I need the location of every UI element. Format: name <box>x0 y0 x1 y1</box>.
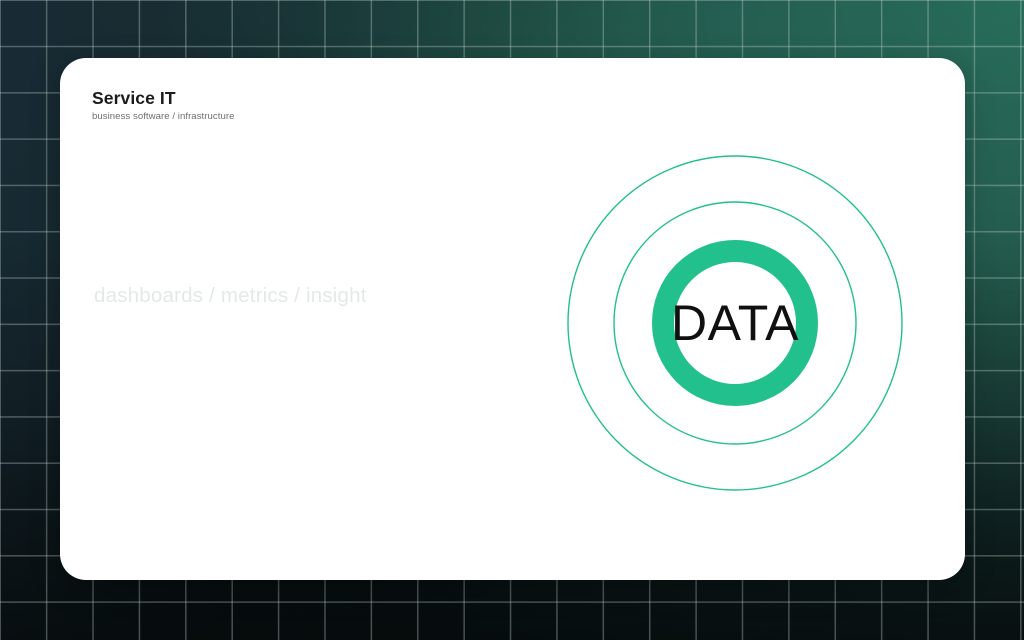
rings-svg: DATA <box>555 143 915 503</box>
brand-subtitle: business software / infrastructure <box>92 111 234 123</box>
rings-graphic: DATA <box>555 143 915 503</box>
slide-canvas: Service IT business software / infrastru… <box>0 0 1024 640</box>
tagline-text: dashboards / metrics / insight <box>94 284 367 308</box>
brand-block: Service IT business software / infrastru… <box>92 89 234 122</box>
ring-center-label: DATA <box>671 295 799 351</box>
brand-title: Service IT <box>92 89 234 109</box>
content-card: Service IT business software / infrastru… <box>60 58 965 580</box>
